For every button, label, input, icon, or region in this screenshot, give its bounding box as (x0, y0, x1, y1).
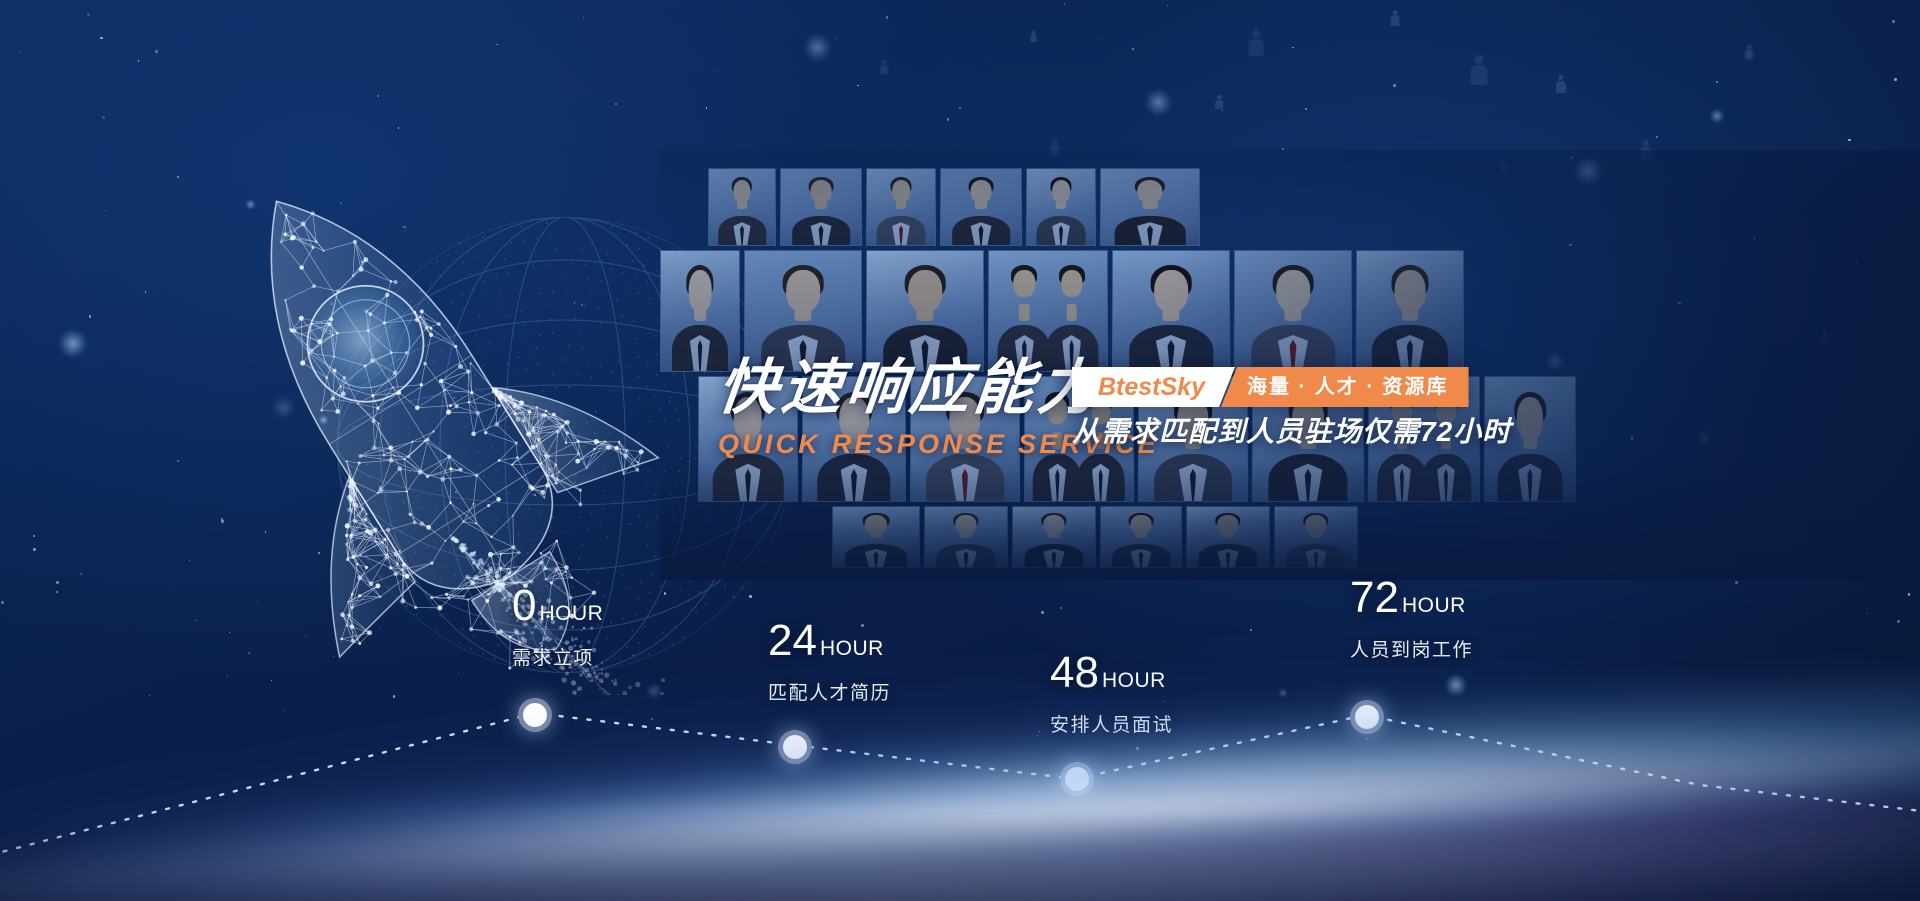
banner-stage: 快速响应能力 QUICK RESPONSE SERVICE BtestSky 海… (0, 0, 1920, 901)
aurora-horizon (0, 561, 1920, 901)
bottom-vignette (0, 811, 1920, 901)
